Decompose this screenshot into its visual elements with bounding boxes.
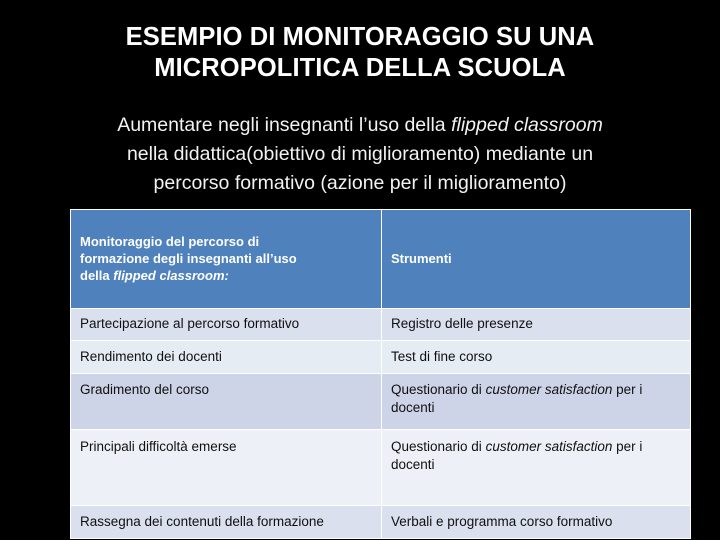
table-header-monitoring-line-3-emphasis: flipped classroom: xyxy=(113,268,229,283)
table-cell-tool-text: Questionario di xyxy=(391,439,486,454)
table-header-monitoring-line-1: Monitoraggio del percorso di xyxy=(80,233,372,250)
table-row: Gradimento del corso Questionario di cus… xyxy=(71,374,691,430)
table-cell-indicator: Gradimento del corso xyxy=(71,374,382,430)
table-cell-tool-emphasis: customer satisfaction xyxy=(486,382,613,397)
page-subtitle-line-3: percorso formativo (azione per il miglio… xyxy=(70,169,650,198)
page-subtitle-line-1: Aumentare negli insegnanti l’uso della f… xyxy=(70,111,650,140)
table-cell-tool-emphasis: customer satisfaction xyxy=(486,439,613,454)
table-cell-indicator: Rendimento dei docenti xyxy=(71,341,382,374)
table-row: Rassegna dei contenuti della formazione … xyxy=(71,506,691,539)
table-cell-indicator: Rassegna dei contenuti della formazione xyxy=(71,506,382,539)
table-header: Monitoraggio del percorso di formazione … xyxy=(71,210,691,309)
table-cell-tool-text: Test di fine corso xyxy=(391,349,492,364)
table-header-monitoring-line-3: della flipped classroom: xyxy=(80,267,372,284)
table-cell-tool-text: Registro delle presenze xyxy=(391,316,533,331)
table-cell-tool-text: Verbali e programma corso formativo xyxy=(391,514,612,529)
table-cell-tool: Registro delle presenze xyxy=(382,309,691,341)
table-cell-tool: Questionario di customer satisfaction pe… xyxy=(382,374,691,430)
page-subtitle-line-1-text: Aumentare negli insegnanti l’uso della xyxy=(117,114,451,136)
monitoring-table: Monitoraggio del percorso di formazione … xyxy=(70,209,691,539)
table-cell-tool-text: Questionario di xyxy=(391,382,486,397)
slide-canvas: ESEMPIO DI MONITORAGGIO SU UNA MICROPOLI… xyxy=(0,0,720,540)
page-subtitle-line-2: nella didattica(obiettivo di miglioramen… xyxy=(70,140,650,169)
page-title: ESEMPIO DI MONITORAGGIO SU UNA MICROPOLI… xyxy=(40,22,680,84)
table-cell-indicator: Principali difficoltà emerse xyxy=(71,430,382,506)
monitoring-table-container: Monitoraggio del percorso di formazione … xyxy=(70,209,690,518)
page-title-line-1: ESEMPIO DI MONITORAGGIO SU UNA xyxy=(40,22,680,53)
table-body: Partecipazione al percorso formativo Reg… xyxy=(71,309,691,539)
page-subtitle: Aumentare negli insegnanti l’uso della f… xyxy=(70,111,650,198)
table-header-monitoring-line-3-text: della xyxy=(80,268,113,283)
table-row: Rendimento dei docenti Test di fine cors… xyxy=(71,341,691,374)
table-header-cell-tools: Strumenti xyxy=(382,210,691,309)
table-cell-tool: Questionario di customer satisfaction pe… xyxy=(382,430,691,506)
table-header-cell-monitoring: Monitoraggio del percorso di formazione … xyxy=(71,210,382,309)
table-header-row: Monitoraggio del percorso di formazione … xyxy=(71,210,691,309)
table-cell-indicator: Partecipazione al percorso formativo xyxy=(71,309,382,341)
page-subtitle-line-1-emphasis: flipped classroom xyxy=(451,114,603,136)
table-row: Principali difficoltà emerse Questionari… xyxy=(71,430,691,506)
table-row: Partecipazione al percorso formativo Reg… xyxy=(71,309,691,341)
table-header-monitoring-line-2: formazione degli insegnanti all’uso xyxy=(80,250,372,267)
table-cell-tool: Test di fine corso xyxy=(382,341,691,374)
page-title-line-2: MICROPOLITICA DELLA SCUOLA xyxy=(40,53,680,84)
table-cell-tool: Verbali e programma corso formativo xyxy=(382,506,691,539)
